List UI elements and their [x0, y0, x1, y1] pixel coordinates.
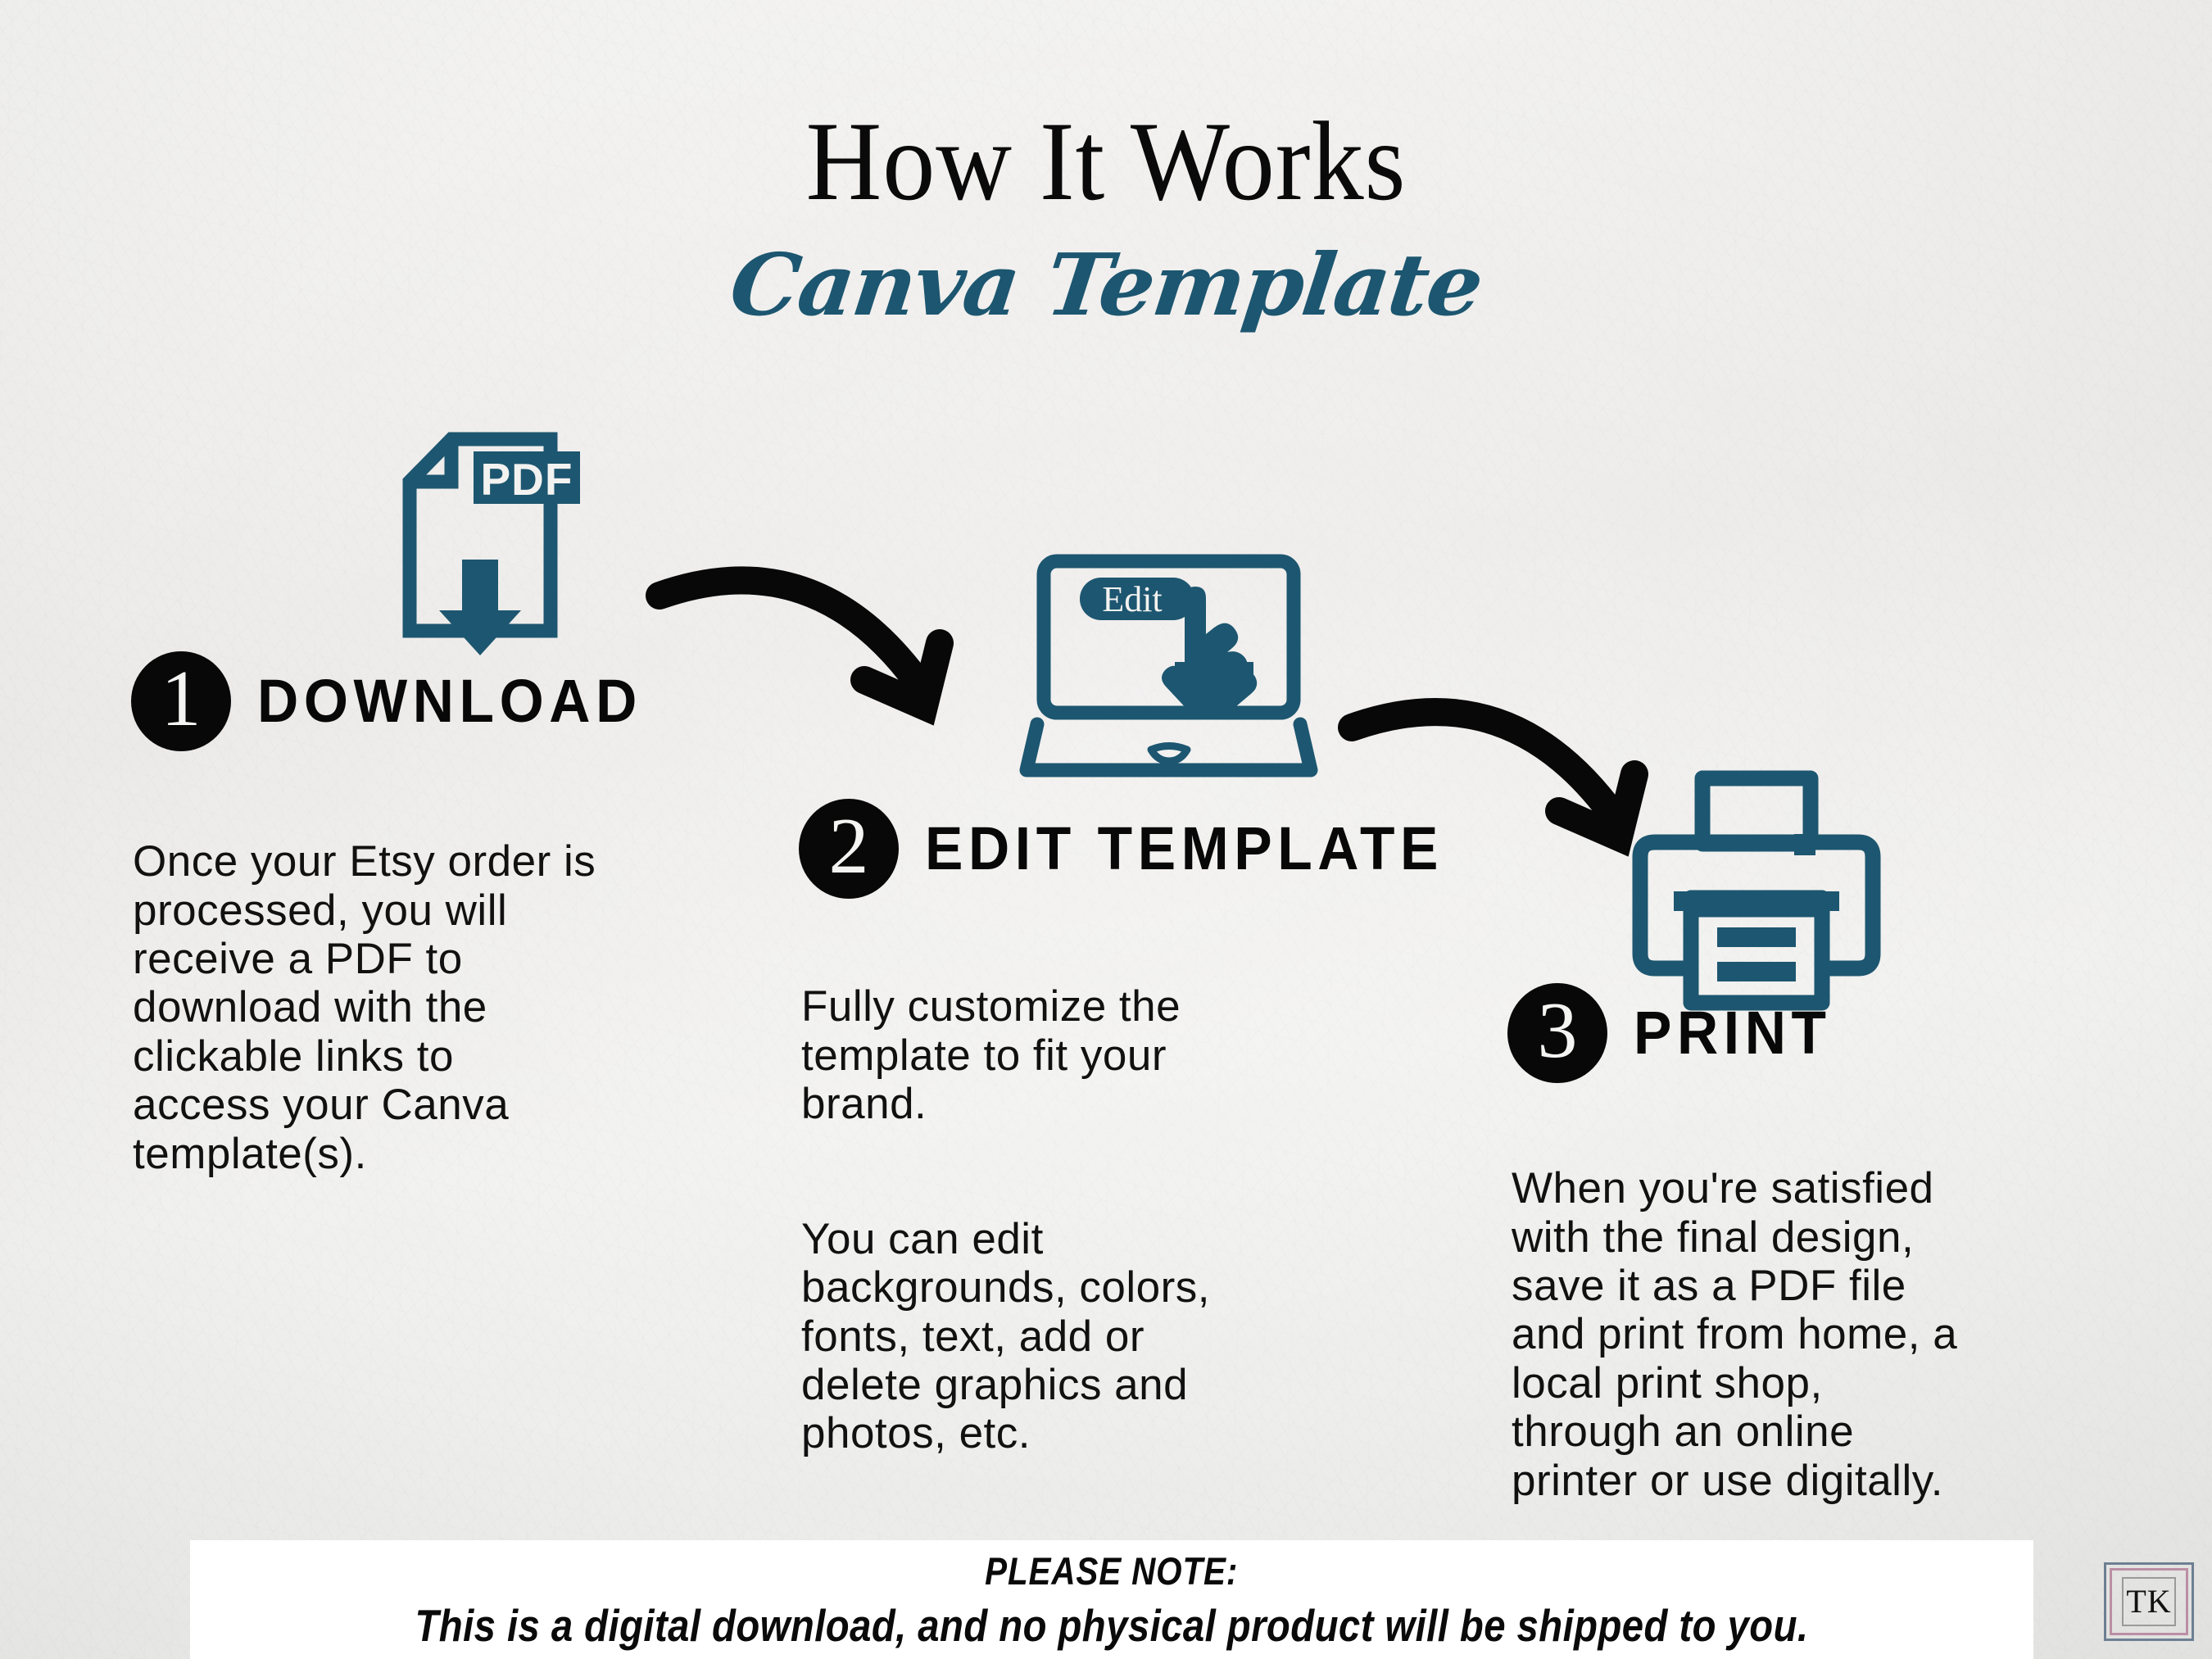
step-2-paragraph-1: Fully customize the template to fit your… — [801, 982, 1375, 1128]
note-title: PLEASE NOTE: — [985, 1552, 1238, 1590]
pdf-download-icon: PDF — [410, 439, 580, 655]
step-3-body: When you're satisfied with the final des… — [1512, 1116, 2134, 1553]
step-2-paragraph-2: You can edit backgrounds, colors, fonts,… — [801, 1215, 1375, 1458]
arrow-step1-to-step2 — [660, 580, 940, 706]
note-text: This is a digital download, and no physi… — [415, 1603, 1808, 1648]
step-3-number: 3 — [1507, 983, 1607, 1083]
step-2-number: 2 — [799, 799, 899, 899]
please-note-box: PLEASE NOTE: This is a digital download,… — [190, 1540, 2033, 1659]
laptop-edit-icon: Edit — [1027, 561, 1311, 770]
step-1-label: DOWNLOAD — [257, 671, 642, 732]
step-3-label: PRINT — [1634, 1003, 1832, 1063]
step-3-paragraph-1: When you're satisfied with the final des… — [1512, 1164, 2134, 1505]
step-1-body: Once your Etsy order is processed, you w… — [133, 789, 755, 1226]
tk-logo: TK — [2104, 1562, 2194, 1641]
step-1-number: 1 — [131, 651, 231, 751]
step-1-paragraph-1: Once your Etsy order is processed, you w… — [133, 837, 755, 1178]
tk-logo-inner-border: TK — [2122, 1577, 2176, 1626]
step-2-body: Fully customize the template to fit your… — [801, 934, 1375, 1507]
step-1-heading: 1 DOWNLOAD — [131, 651, 667, 751]
step-3-heading: 3 PRINT — [1507, 983, 1844, 1083]
tk-logo-initials: TK — [2126, 1585, 2171, 1618]
pdf-badge-label: PDF — [481, 454, 573, 505]
step-2-heading: 2 EDIT TEMPLATE — [799, 799, 1476, 899]
edit-button-label: Edit — [1102, 579, 1162, 619]
step-2-label: EDIT TEMPLATE — [925, 818, 1444, 879]
printer-icon — [1640, 778, 1873, 1003]
